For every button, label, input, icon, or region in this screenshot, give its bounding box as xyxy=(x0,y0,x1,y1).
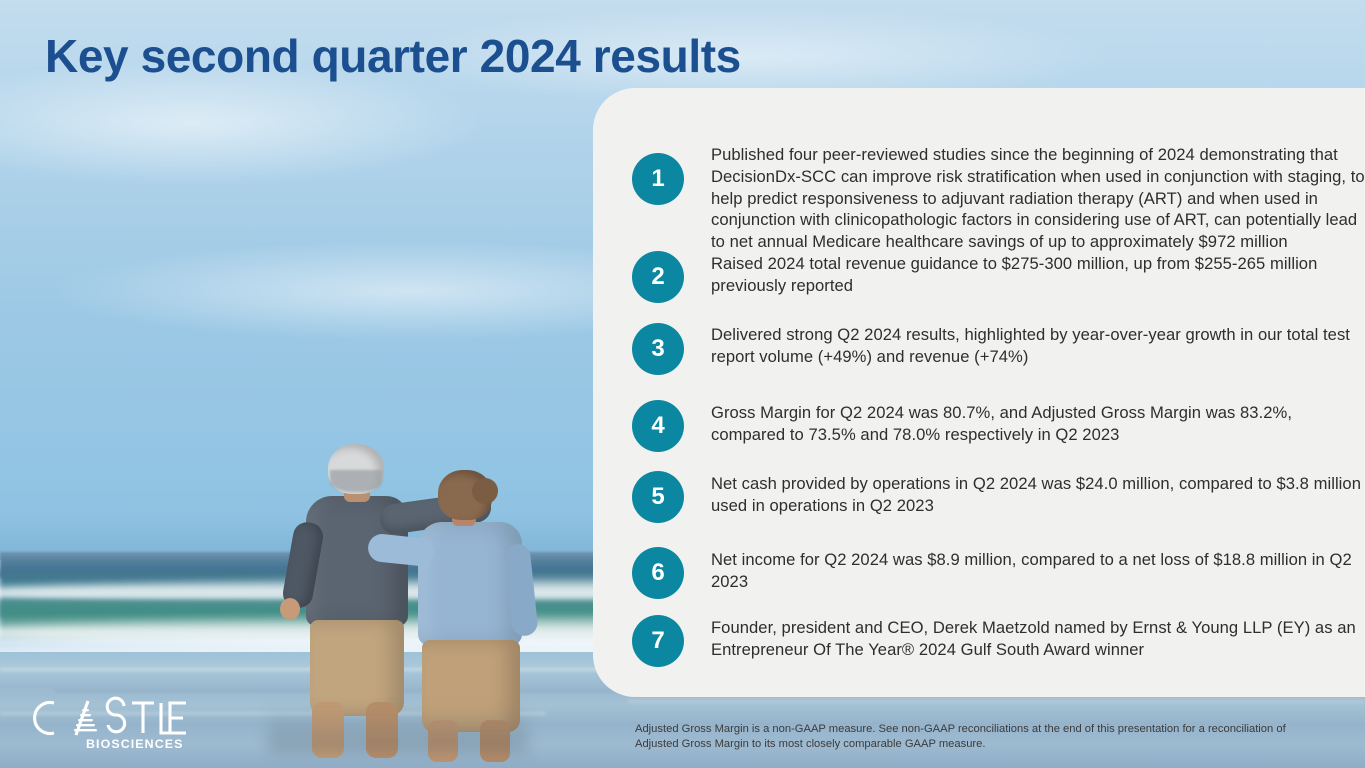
bullet-text: Gross Margin for Q2 2024 was 80.7%, and … xyxy=(711,402,1365,446)
man-hair xyxy=(330,470,382,492)
woman-hair-bun xyxy=(472,478,498,504)
bullet-number-badge: 6 xyxy=(632,547,684,599)
bullet-number-badge: 5 xyxy=(632,471,684,523)
bullet-number-badge: 7 xyxy=(632,615,684,667)
list-item: 6 Net income for Q2 2024 was $8.9 millio… xyxy=(632,547,1365,599)
bullet-number-badge: 1 xyxy=(632,153,684,205)
bullet-text: Founder, president and CEO, Derek Maetzo… xyxy=(711,617,1365,661)
list-item: 1 Published four peer-reviewed studies s… xyxy=(632,153,1365,253)
footnote-text: Adjusted Gross Margin is a non-GAAP meas… xyxy=(635,722,1315,751)
castle-biosciences-logo: BIOSCIENCES xyxy=(28,695,198,753)
list-item: 3 Delivered strong Q2 2024 results, high… xyxy=(632,323,1365,375)
bullet-text: Published four peer-reviewed studies sin… xyxy=(711,144,1365,253)
list-item: 7 Founder, president and CEO, Derek Maet… xyxy=(632,615,1365,667)
bullet-text: Net income for Q2 2024 was $8.9 million,… xyxy=(711,549,1365,593)
bullet-text: Delivered strong Q2 2024 results, highli… xyxy=(711,324,1365,368)
list-item: 4 Gross Margin for Q2 2024 was 80.7%, an… xyxy=(632,400,1365,452)
list-item: 2 Raised 2024 total revenue guidance to … xyxy=(632,251,1365,303)
couple-walking-figure xyxy=(250,440,550,710)
highlights-panel: 1 Published four peer-reviewed studies s… xyxy=(593,88,1365,697)
page-title: Key second quarter 2024 results xyxy=(45,30,741,83)
water-reflection xyxy=(268,706,528,752)
bullet-number-badge: 3 xyxy=(632,323,684,375)
man-hand xyxy=(280,598,300,620)
slide-root: Key second quarter 2024 results 1 Publis… xyxy=(0,0,1365,768)
sand-streak xyxy=(628,700,1365,703)
bullet-number-badge: 4 xyxy=(632,400,684,452)
bullet-text: Net cash provided by operations in Q2 20… xyxy=(711,473,1365,517)
list-item: 5 Net cash provided by operations in Q2 … xyxy=(632,471,1365,523)
logo-subtitle-text: BIOSCIENCES xyxy=(86,737,183,751)
highlights-list: 1 Published four peer-reviewed studies s… xyxy=(593,88,1365,697)
bullet-number-badge: 2 xyxy=(632,251,684,303)
bullet-text: Raised 2024 total revenue guidance to $2… xyxy=(711,253,1365,297)
